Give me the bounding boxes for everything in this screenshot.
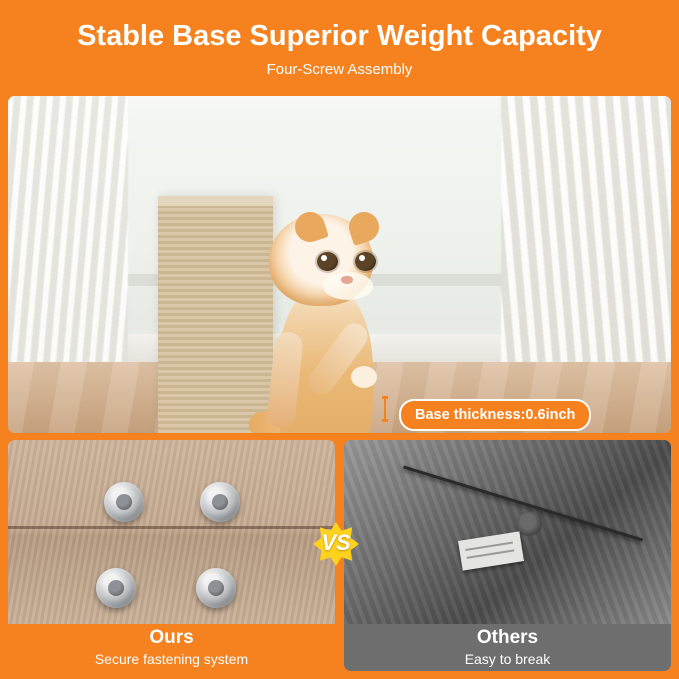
screw-icon	[196, 568, 236, 608]
ours-title: Ours	[8, 624, 335, 650]
header: Stable Base Superior Weight Capacity Fou…	[0, 0, 679, 92]
post-top-cap	[158, 196, 273, 206]
others-subtitle: Easy to break	[344, 650, 671, 668]
cat-ear-right	[345, 208, 383, 246]
curtain-left	[8, 96, 128, 368]
cat-nose	[341, 276, 353, 284]
torn-dark-fabric-photo	[344, 440, 671, 624]
cat	[241, 214, 391, 433]
comparison-panel-others: Others Easy to break	[344, 440, 671, 671]
cat-ear-left	[291, 208, 329, 246]
thickness-measure-icon	[382, 396, 388, 422]
cat-paw	[351, 366, 377, 388]
others-caption: Others Easy to break	[344, 624, 671, 671]
fabric-label-tag	[458, 531, 524, 570]
cat-eye-right	[355, 252, 376, 271]
curtain-right	[501, 96, 671, 368]
cat-head	[269, 214, 373, 306]
main-product-photo	[8, 96, 671, 433]
screw-icon	[104, 482, 144, 522]
base-thickness-badge: Base thickness:0.6inch	[399, 399, 591, 431]
ours-caption: Ours Secure fastening system	[8, 624, 335, 671]
page-subtitle: Four-Screw Assembly	[0, 60, 679, 80]
screw-icon	[96, 568, 136, 608]
knot-detail	[516, 512, 542, 536]
carpet-base-with-four-screws-photo	[8, 440, 335, 624]
screw-icon	[200, 482, 240, 522]
ours-subtitle: Secure fastening system	[8, 650, 335, 668]
product-infographic: Stable Base Superior Weight Capacity Fou…	[0, 0, 679, 679]
vs-badge: VS	[307, 518, 365, 570]
others-title: Others	[344, 624, 671, 650]
comparison-panel-ours: Ours Secure fastening system	[8, 440, 335, 671]
vs-label: VS	[307, 530, 365, 556]
page-title: Stable Base Superior Weight Capacity	[0, 16, 679, 56]
cat-eye-left	[317, 252, 338, 271]
